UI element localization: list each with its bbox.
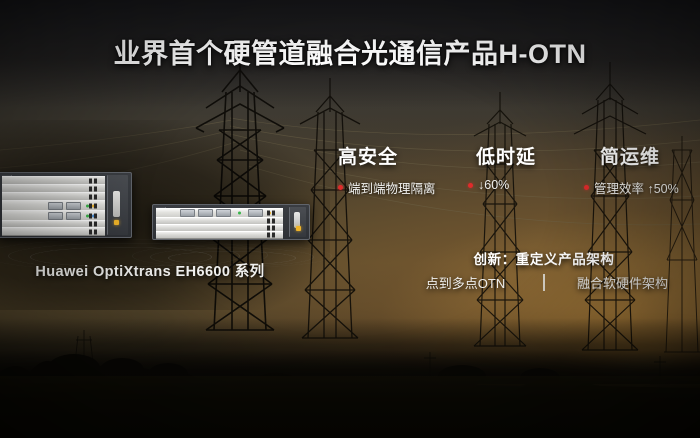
feature-sub-label: 端到端物理隔离 <box>348 178 436 197</box>
red-dot-icon <box>338 185 343 190</box>
feature-heading: 高安全 <box>338 142 436 169</box>
feature-sub-label: 60% <box>484 178 509 192</box>
product-label: Huawei OptiXtrans EH6600 系列 <box>0 260 300 281</box>
feature-block-om: 简运维 管理效率 ↑50% <box>600 142 679 197</box>
feature-sub-row: 端到端物理隔离 <box>338 178 436 197</box>
innovation-heading: 创新：重定义产品架构 <box>388 248 700 268</box>
chassis-small-right-rail <box>289 207 306 237</box>
feature-sub-row: ↓ 60% <box>468 178 536 192</box>
feature-block-security: 高安全 端到端物理隔离 <box>338 142 436 197</box>
innovation-item-converged: 融合软硬件架构 <box>545 273 700 292</box>
product-chassis-large <box>0 172 130 236</box>
chassis-slot <box>2 227 105 236</box>
feature-block-latency: 低时延 ↓ 60% <box>476 142 536 192</box>
innovation-item-p2mp: 点到多点OTN <box>388 273 543 292</box>
feature-heading: 低时延 <box>476 142 536 169</box>
innovation-row: 点到多点OTN 融合软硬件架构 <box>388 273 700 292</box>
feature-sub-row: 管理效率 ↑50% <box>584 178 679 197</box>
product-chassis-small <box>152 204 308 238</box>
slide-canvas: 业界首个硬管道融合光通信产品H-OTN <box>0 0 700 438</box>
page-title: 业界首个硬管道融合光通信产品H-OTN <box>0 32 700 71</box>
ground-shadow <box>0 318 700 438</box>
red-dot-icon <box>468 183 473 188</box>
red-dot-icon <box>584 185 589 190</box>
chassis-small-slot <box>156 231 283 239</box>
feature-sub-label: 管理效率 ↑50% <box>594 178 679 197</box>
feature-heading: 简运维 <box>600 142 679 169</box>
chassis-right-rail <box>107 175 128 235</box>
